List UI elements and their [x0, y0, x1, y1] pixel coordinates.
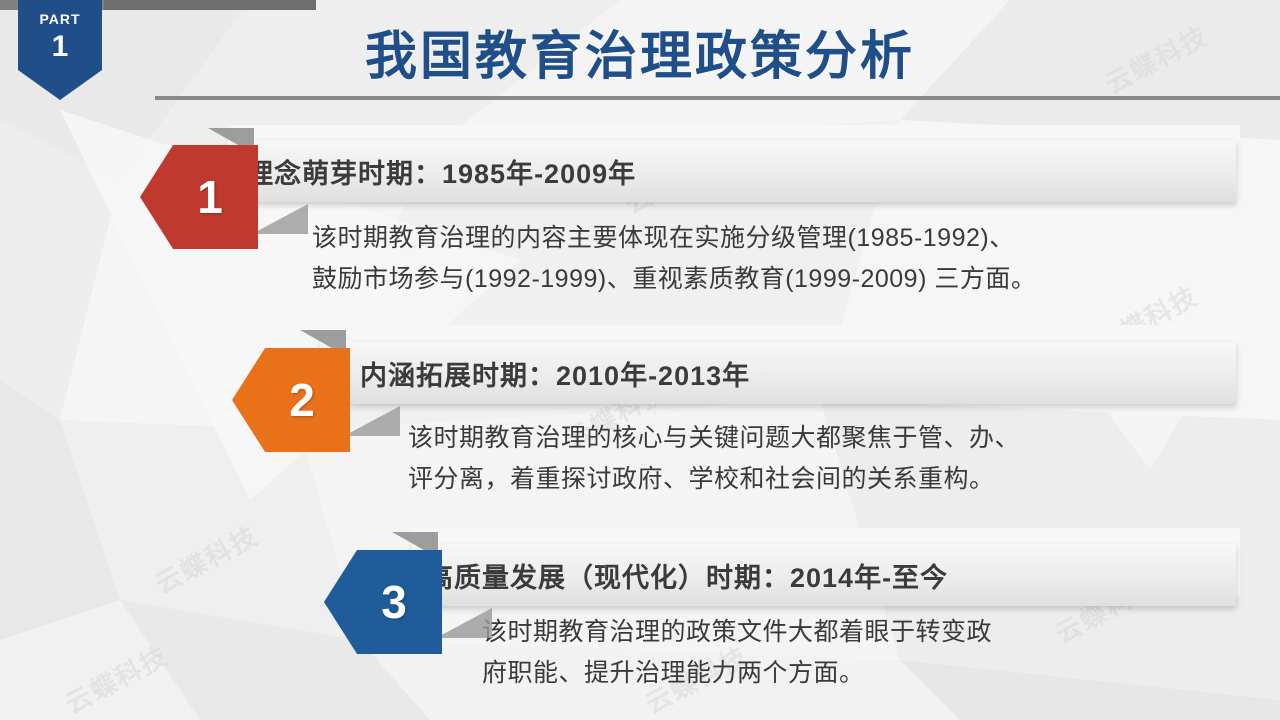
- block-3-body: 该时期教育治理的政策文件大都着眼于转变政 府职能、提升治理能力两个方面。: [482, 612, 1242, 693]
- block-3-heading: 高质量发展（现代化）时期：2014年-至今: [426, 556, 948, 595]
- block-3-header: 高质量发展（现代化）时期：2014年-至今: [412, 544, 1236, 606]
- block-2-heading: 内涵拓展时期：2010年-2013年: [360, 354, 750, 393]
- block-1-body: 该时期教育治理的内容主要体现在实施分级管理(1985-1992)、 鼓励市场参与…: [312, 218, 1252, 299]
- page-title: 我国教育治理政策分析: [0, 14, 1280, 89]
- block-1-number: 1: [197, 174, 223, 220]
- block-2-header: 内涵拓展时期：2010年-2013年: [320, 342, 1236, 404]
- block-2-body: 该时期教育治理的核心与关键问题大都聚焦于管、办、 评分离，着重探讨政府、学校和社…: [408, 418, 1248, 499]
- block-2-number: 2: [289, 377, 315, 423]
- slide-canvas: 云蝶科技 云蝶科技 云蝶科技 云蝶科技 云蝶科技 云蝶科技 云蝶科技 云蝶科技 …: [0, 0, 1280, 720]
- block-1-heading: 理念萌芽时期：1985年-2009年: [246, 152, 636, 191]
- header-bar-right: [104, 0, 316, 10]
- block-1-header: 理念萌芽时期：1985年-2009年: [228, 140, 1236, 202]
- header-divider: [155, 96, 1280, 100]
- block-3-number: 3: [381, 579, 407, 625]
